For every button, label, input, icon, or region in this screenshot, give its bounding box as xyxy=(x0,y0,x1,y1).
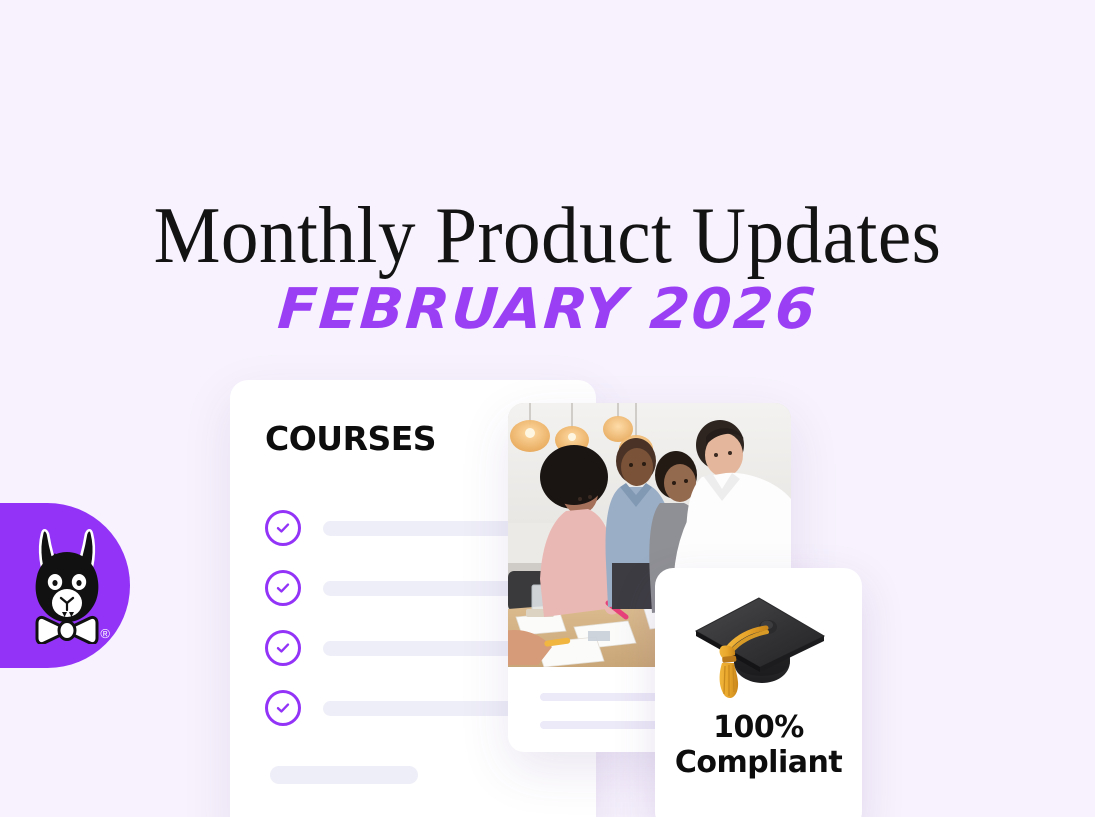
check-circle-icon xyxy=(265,690,301,726)
llama-logo-badge: ® xyxy=(0,503,130,668)
page-title: Monthly Product Updates xyxy=(33,196,1062,276)
compliant-card: 100% Compliant xyxy=(655,568,862,817)
poster-canvas: Monthly Product Updates FEBRUARY 2026 xyxy=(0,0,1095,817)
graduation-cap-icon xyxy=(684,584,834,704)
check-circle-icon xyxy=(265,570,301,606)
title-block: Monthly Product Updates FEBRUARY 2026 xyxy=(0,196,1095,338)
courses-card-heading: COURSES xyxy=(265,422,436,455)
registered-trademark-icon: ® xyxy=(100,627,110,640)
check-circle-icon xyxy=(265,510,301,546)
compliant-label: Compliant xyxy=(675,745,842,780)
llama-logo-icon: ® xyxy=(28,528,106,644)
check-circle-icon xyxy=(265,630,301,666)
page-subtitle: FEBRUARY 2026 xyxy=(0,282,1095,338)
courses-footer-placeholder-bar xyxy=(270,766,418,784)
compliant-value: 100% xyxy=(713,710,804,745)
compliant-card-text: 100% Compliant xyxy=(675,710,842,781)
